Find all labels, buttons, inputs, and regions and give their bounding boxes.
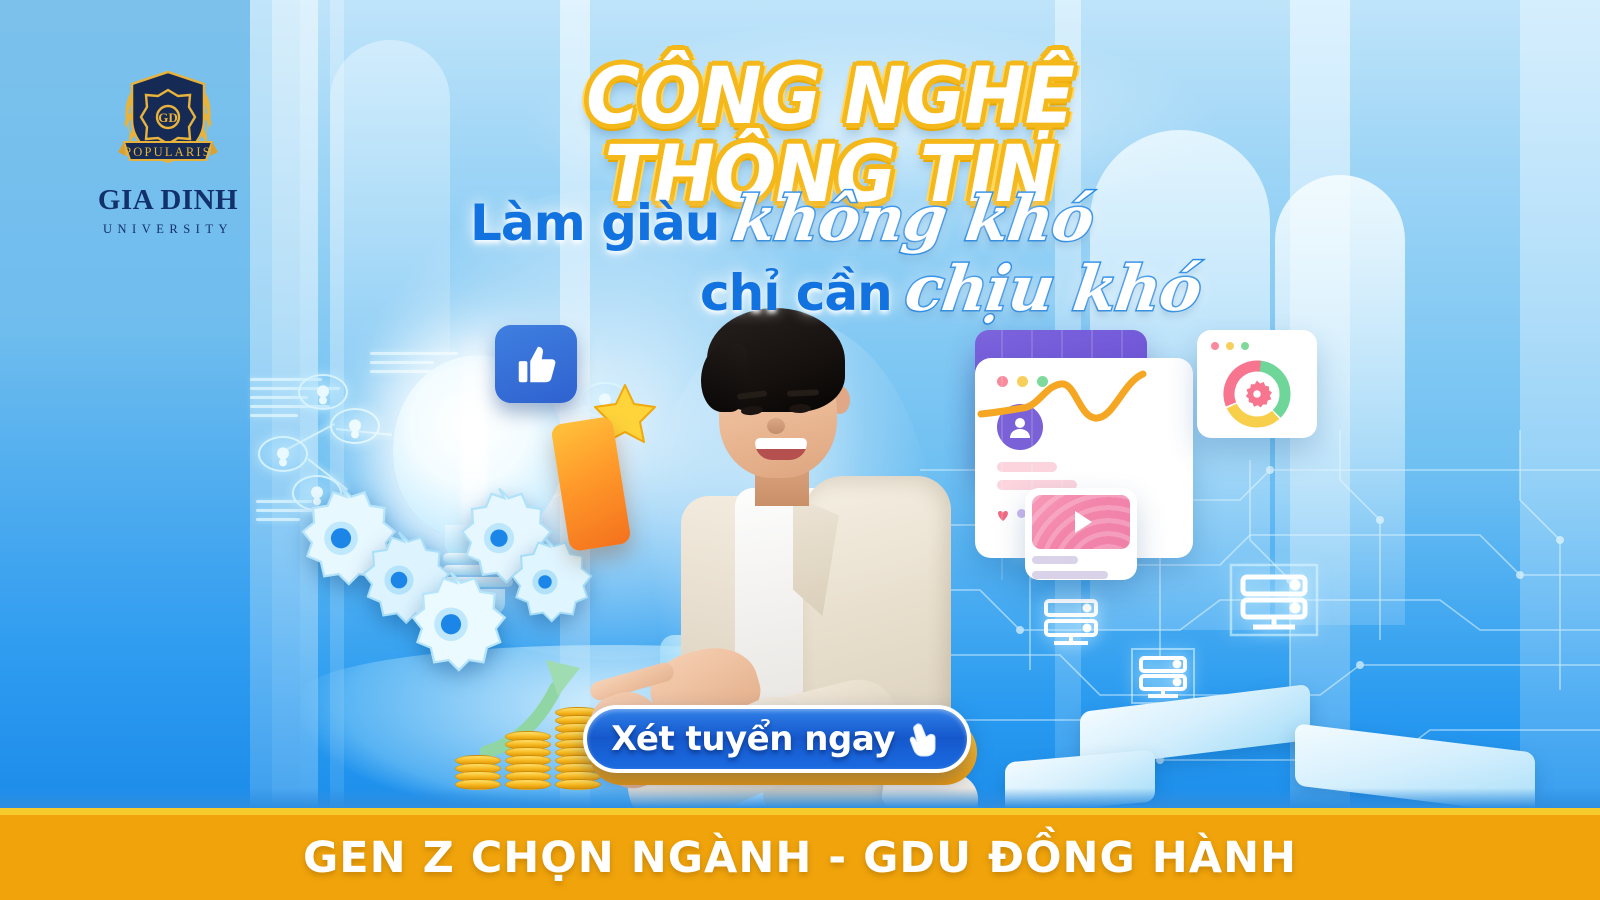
play-icon <box>1075 511 1092 533</box>
window-dot-green <box>1241 342 1249 350</box>
subheadline-script: không khó <box>728 182 1098 255</box>
footer-banner: GEN Z CHỌN NGÀNH - GDU ĐỒNG HÀNH <box>0 808 1600 900</box>
window-dots <box>1211 342 1249 350</box>
pointing-hand-cursor-icon <box>909 721 943 757</box>
promo-banner: GD POPULARIS GIA DINH UNIVERSITY CÔNG NG… <box>0 0 1600 900</box>
bottom-blue-strip <box>0 788 1600 808</box>
video-thumbnail <box>1032 495 1130 549</box>
video-player-card <box>1025 488 1137 580</box>
university-logo: GD POPULARIS GIA DINH UNIVERSITY <box>68 62 268 237</box>
placeholder-line <box>1032 571 1108 579</box>
thumbs-up-icon <box>495 325 577 403</box>
subheadline-line-2: chỉ cần chịu khó <box>700 252 1460 325</box>
gear-icon <box>1242 379 1272 409</box>
ui-illustration <box>975 330 1315 580</box>
line-chart-panel <box>975 330 1147 470</box>
logo-subtitle: UNIVERSITY <box>68 222 268 237</box>
server-icon <box>1040 595 1102 656</box>
user-node-icon <box>258 436 308 472</box>
donut-chart-card <box>1197 330 1317 438</box>
logo-name: GIA DINH <box>68 186 268 215</box>
window-dot-red <box>1211 342 1219 350</box>
cta-container: Xét tuyển ngay <box>583 705 983 787</box>
crest-monogram: GD <box>158 110 178 125</box>
subheadline-bold: Làm giàu <box>470 194 719 252</box>
footer-text: GEN Z CHỌN NGÀNH - GDU ĐỒNG HÀNH <box>303 833 1297 883</box>
apply-now-button[interactable]: Xét tuyển ngay <box>583 705 971 773</box>
user-node-icon <box>298 374 348 410</box>
apply-now-label: Xét tuyển ngay <box>611 719 895 759</box>
subheadline-bold: chỉ cần <box>700 264 892 322</box>
crest-motto: POPULARIS <box>124 145 212 159</box>
crest-icon: GD POPULARIS <box>108 62 228 180</box>
placeholder-line <box>1032 556 1078 564</box>
subheadline-script: chịu khó <box>901 252 1206 325</box>
subheadline-line-1: Làm giàu không khó <box>470 182 1230 255</box>
window-dot-yellow <box>1226 342 1234 350</box>
